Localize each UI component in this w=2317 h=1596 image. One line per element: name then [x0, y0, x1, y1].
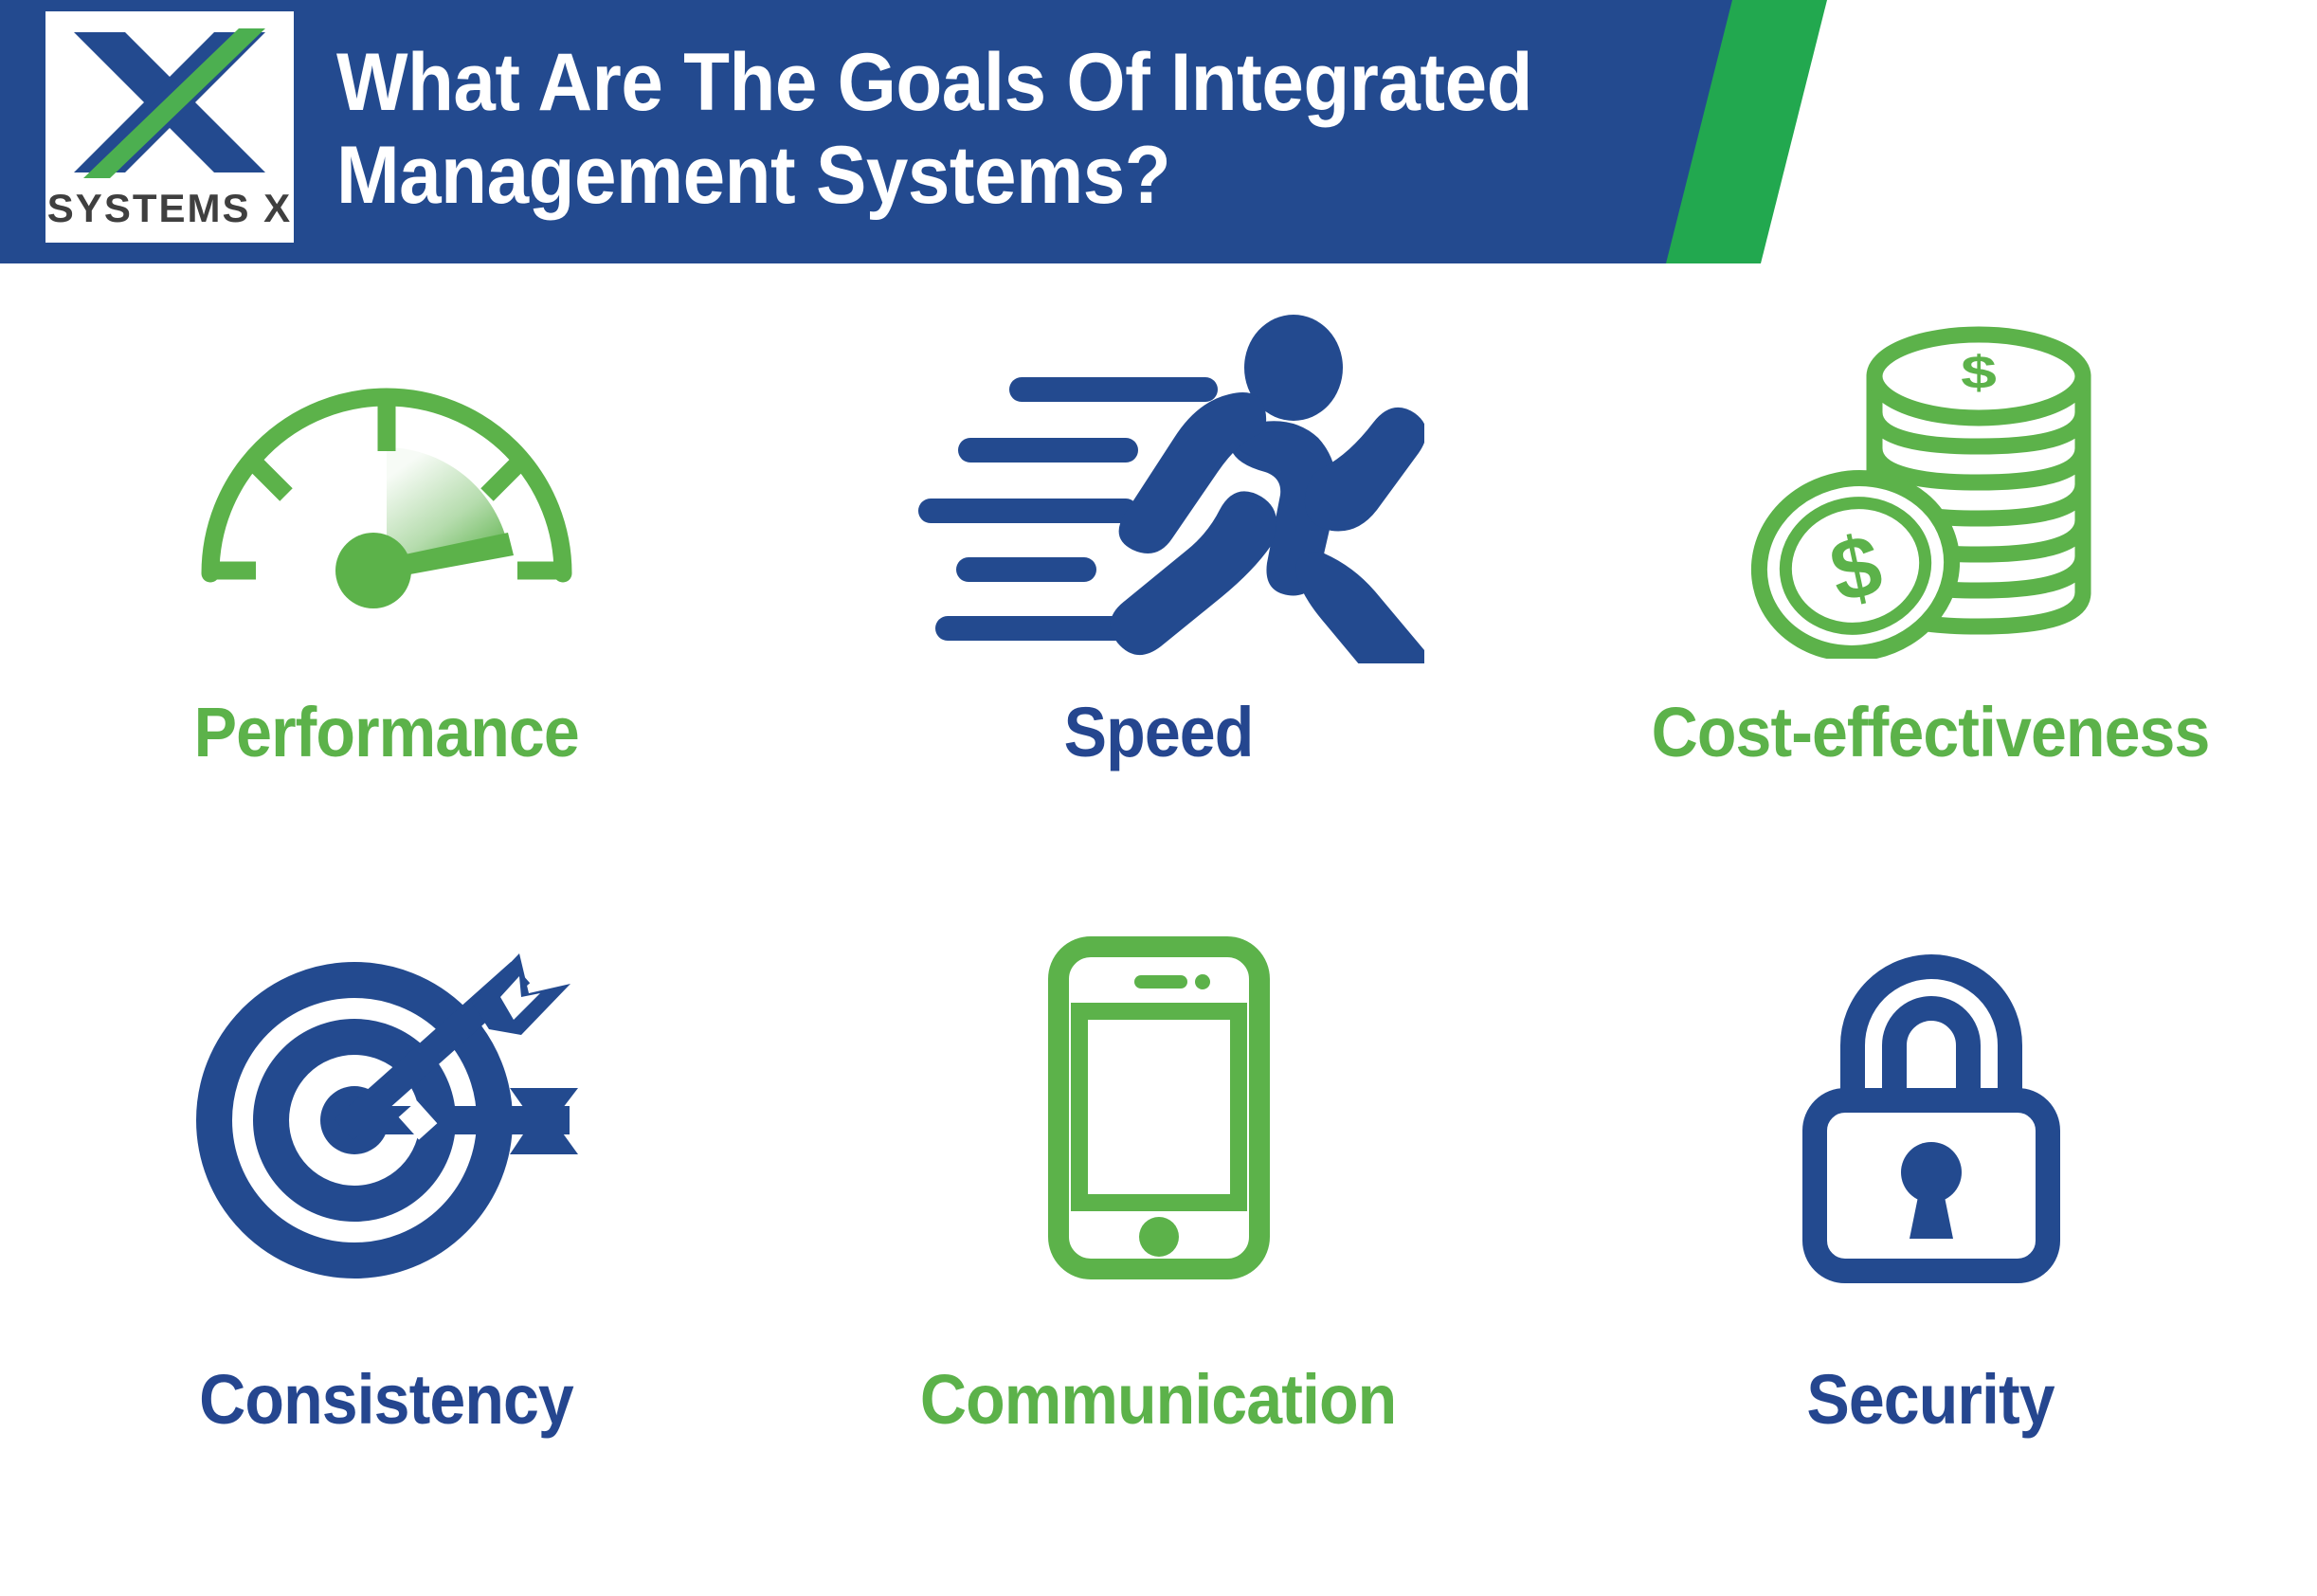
goal-label-cost-effectiveness: Cost-effectiveness: [1652, 692, 2210, 772]
goal-label-speed: Speed: [1064, 692, 1254, 772]
goal-card-cost-effectiveness[interactable]: $ $ Cost-effectiveness: [1545, 284, 2317, 891]
goal-card-security[interactable]: Security: [1545, 891, 2317, 1516]
goals-grid: Performance: [0, 284, 2317, 1592]
coin-stack-icon-wrap: $ $: [1545, 284, 2317, 692]
dollar-sign-top: $: [1961, 347, 1997, 399]
goal-label-security: Security: [1807, 1359, 2055, 1440]
logo-wordmark: SYSTEMS X: [45, 186, 294, 231]
goal-label-communication: Communication: [920, 1359, 1396, 1440]
smartphone-icon-wrap: [772, 891, 1545, 1327]
coin-stack-icon: $ $: [1732, 317, 2130, 659]
running-person-icon-wrap: [772, 284, 1545, 692]
running-person-icon: [894, 313, 1424, 663]
goal-label-consistency: Consistency: [199, 1359, 573, 1440]
target-arrow-icon-wrap: [0, 891, 772, 1327]
goal-label-performance: Performance: [193, 692, 578, 772]
goal-card-consistency[interactable]: Consistency: [0, 891, 772, 1516]
logo[interactable]: SYSTEMS X: [45, 11, 294, 243]
smartphone-icon: [1036, 934, 1282, 1284]
goal-card-communication[interactable]: Communication: [772, 891, 1545, 1516]
goal-card-performance[interactable]: Performance: [0, 284, 772, 891]
header-banner: SYSTEMS X What Are The Goals Of Integrat…: [0, 0, 2317, 263]
page-title: What Are The Goals Of Integrated Managem…: [336, 36, 1562, 222]
goal-card-speed[interactable]: Speed: [772, 284, 1545, 891]
page-title-line-2: Management Systems?: [336, 129, 1562, 222]
padlock-icon-wrap: [1545, 891, 2317, 1327]
target-arrow-icon: [188, 938, 586, 1279]
padlock-icon: [1794, 934, 2069, 1284]
gauge-icon: [188, 360, 586, 616]
page-title-line-1: What Are The Goals Of Integrated: [336, 36, 1562, 129]
svg-text:$: $: [1961, 347, 1997, 399]
letter-x-logo-icon: [68, 27, 271, 178]
gauge-icon-wrap: [0, 284, 772, 692]
